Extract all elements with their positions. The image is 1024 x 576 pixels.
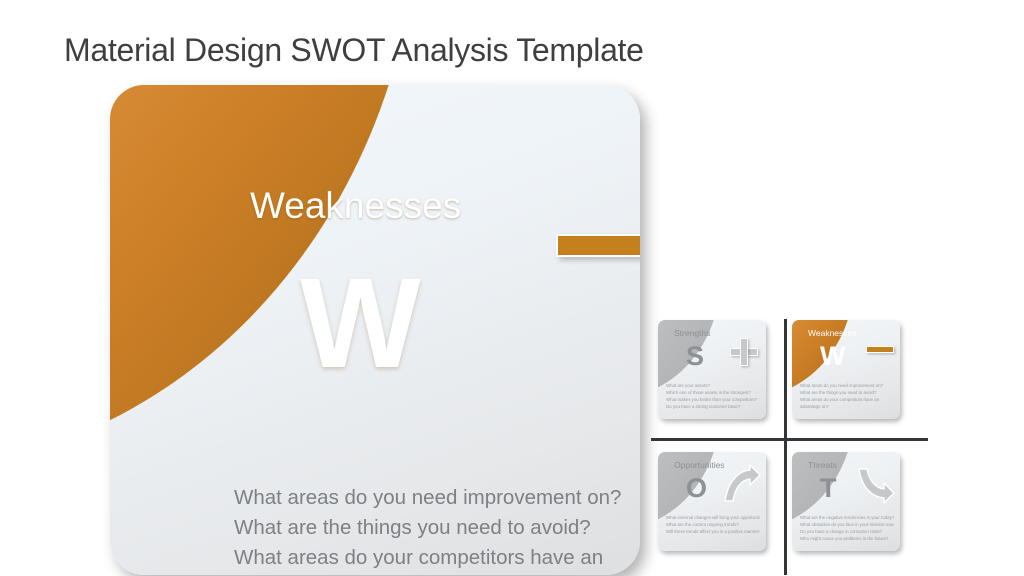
body-line: What are the things you need to avoid? bbox=[234, 513, 634, 543]
main-card-body-text: What areas do you need improvement on?Wh… bbox=[234, 483, 634, 575]
page-title: Material Design SWOT Analysis Template bbox=[64, 32, 644, 69]
body-line: Do you have a strong customer base? bbox=[666, 403, 760, 410]
thumbnail-letter: W bbox=[820, 343, 845, 370]
thumbnail-title: Threats bbox=[808, 460, 837, 470]
quadrant-thumbnail-strengths[interactable]: StrengthsSWhat are your assets?Which one… bbox=[658, 320, 766, 419]
body-line: What are your assets? bbox=[666, 382, 760, 389]
thumbnail-letter: T bbox=[820, 475, 837, 502]
main-slide-card[interactable]: Weaknesses W What areas do you need impr… bbox=[110, 85, 640, 575]
quadrant-thumbnail-weaknesses[interactable]: WeaknessesWWhat areas do you need improv… bbox=[792, 320, 900, 419]
body-line: What makes you better than your competit… bbox=[666, 396, 760, 403]
thumbnail-body-text: What areas do you need improvement on?Wh… bbox=[800, 382, 894, 410]
plus-icon bbox=[730, 338, 758, 366]
body-line: What areas do your competitors have an a… bbox=[234, 543, 634, 575]
body-line: Do you have a change in consumer taste? bbox=[800, 528, 894, 535]
main-card-letter: W bbox=[300, 260, 419, 388]
arrow-down-icon bbox=[856, 464, 896, 504]
thumbnail-body-text: What are your assets?Which one of those … bbox=[666, 382, 760, 410]
thumbnail-title: Opportunities bbox=[674, 460, 725, 470]
quadrant-divider-vertical bbox=[784, 319, 787, 575]
thumbnail-body-text: What are the negative tendencies in your… bbox=[800, 514, 894, 542]
thumbnail-title: Strengths bbox=[674, 328, 710, 338]
body-line: What are the current ongoing trends? bbox=[666, 521, 760, 528]
thumbnail-letter: S bbox=[686, 343, 704, 370]
body-line: What areas do you need improvement on? bbox=[800, 382, 894, 389]
quadrant-thumbnail-threats[interactable]: ThreatsTWhat are the negative tendencies… bbox=[792, 452, 900, 551]
quadrant-thumbnail-opportunities[interactable]: OpportunitiesOWhat external changes will… bbox=[658, 452, 766, 551]
thumbnail-title: Weaknesses bbox=[808, 328, 857, 338]
body-line: What areas do you need improvement on? bbox=[234, 483, 634, 513]
body-line: What are the things you need to avoid? bbox=[800, 389, 894, 396]
minus-icon bbox=[866, 346, 894, 353]
quadrant-divider-horizontal bbox=[651, 438, 928, 441]
body-line: What areas do your competitors have an bbox=[800, 396, 894, 403]
thumbnail-letter: O bbox=[686, 475, 707, 502]
body-line: What external changes will bring your op… bbox=[666, 514, 760, 521]
body-line: Which one of those assets is the stronge… bbox=[666, 389, 760, 396]
body-line: Will these trends affect you in a positi… bbox=[666, 528, 760, 535]
main-card-title: Weaknesses bbox=[250, 185, 461, 227]
arrow-up-icon bbox=[722, 464, 762, 504]
body-line: What obstacles do you face in your missi… bbox=[800, 521, 894, 528]
body-line: advantage on? bbox=[800, 403, 894, 410]
thumbnail-body-text: What external changes will bring your op… bbox=[666, 514, 760, 535]
body-line: Who might cause you problems in the futu… bbox=[800, 535, 894, 542]
minus-bar-icon bbox=[556, 234, 640, 257]
body-line: What are the negative tendencies in your… bbox=[800, 514, 894, 521]
